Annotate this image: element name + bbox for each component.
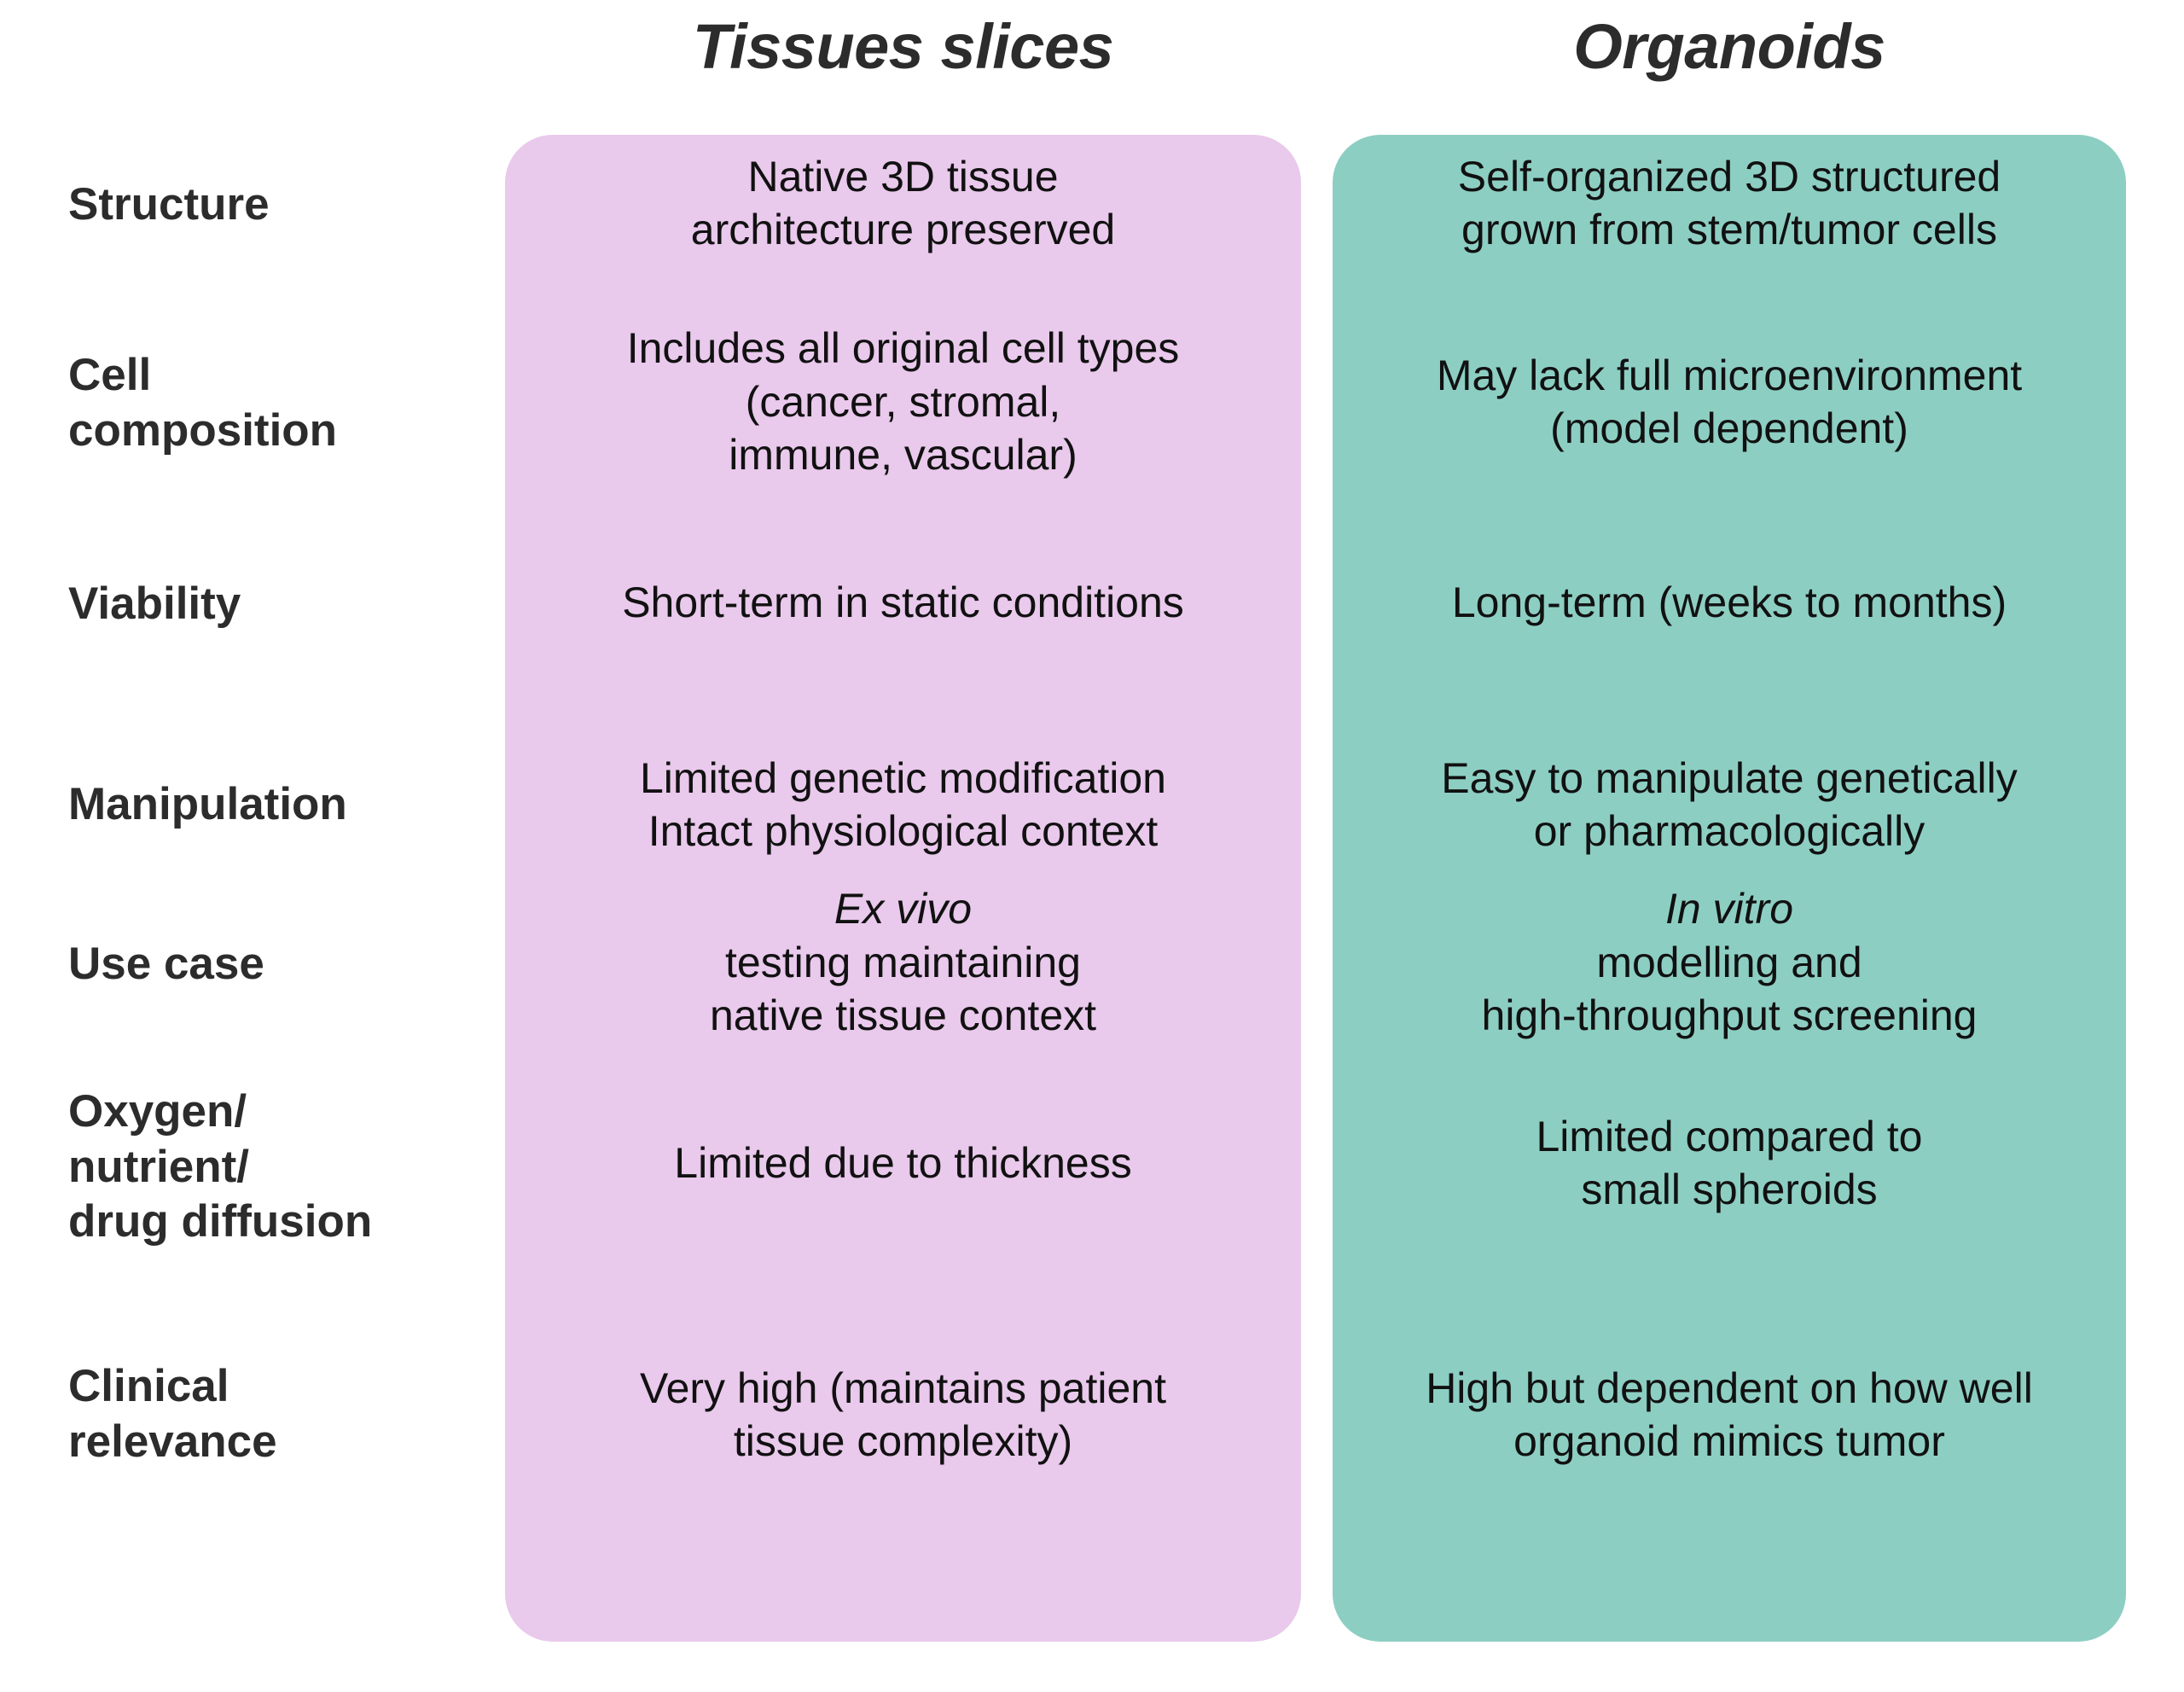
row-label-2: Viability <box>68 536 495 672</box>
cell-tissue-slices-0: Native 3D tissuearchitecture preserved <box>505 135 1301 271</box>
cell-organoids-3: Easy to manipulate geneticallyor pharmac… <box>1333 732 2126 877</box>
cell-organoids-6: High but dependent on how wellorganoid m… <box>1333 1278 2126 1551</box>
cell-tissue-slices-1: Includes all original cell types(cancer,… <box>505 278 1301 526</box>
column-headers: Tissues slices Organoids <box>0 0 2184 135</box>
row-label-text: Manipulation <box>68 777 347 833</box>
cell-organoids-0: Self-organized 3D structuredgrown from s… <box>1333 135 2126 271</box>
row-label-1: Cellcomposition <box>68 280 495 527</box>
column-header-organoids: Organoids <box>1333 12 2126 81</box>
cell-organoids-1: May lack full microenvironment(model dep… <box>1333 278 2126 526</box>
column-header-tissue-slices: Tissues slices <box>505 12 1301 81</box>
row-label-text: Structure <box>68 177 270 233</box>
row-label-5: Oxygen/nutrient/drug diffusion <box>68 1031 495 1304</box>
row-label-text: Clinicalrelevance <box>68 1359 277 1469</box>
row-label-0: Structure <box>68 154 495 256</box>
row-label-4: Use case <box>68 879 495 1050</box>
cell-organoids-5: Limited compared tosmall spheroids <box>1333 1056 2126 1270</box>
cell-tissue-slices-6: Very high (maintains patienttissue compl… <box>505 1278 1301 1551</box>
row-label-3: Manipulation <box>68 732 495 877</box>
emphasis-term: Ex vivo <box>529 882 1277 936</box>
cell-tissue-slices-4: Ex vivo testing maintainingnative tissue… <box>505 877 1301 1048</box>
row-label-text: Cellcomposition <box>68 348 337 458</box>
emphasis-term: In vitro <box>1353 882 2106 936</box>
row-label-text: Use case <box>68 937 264 992</box>
row-label-text: Viability <box>68 577 241 632</box>
cell-tissue-slices-3: Limited genetic modificationIntact physi… <box>505 732 1301 877</box>
row-label-6: Clinicalrelevance <box>68 1278 495 1551</box>
comparison-grid: StructureNative 3D tissuearchitecture pr… <box>0 135 2184 1642</box>
cell-tissue-slices-2: Short-term in static conditions <box>505 534 1301 671</box>
row-label-text: Oxygen/nutrient/drug diffusion <box>68 1084 372 1250</box>
cell-tissue-slices-5: Limited due to thickness <box>505 1056 1301 1270</box>
cell-organoids-2: Long-term (weeks to months) <box>1333 534 2126 671</box>
cell-organoids-4: In vitro modelling andhigh-throughput sc… <box>1333 877 2126 1048</box>
